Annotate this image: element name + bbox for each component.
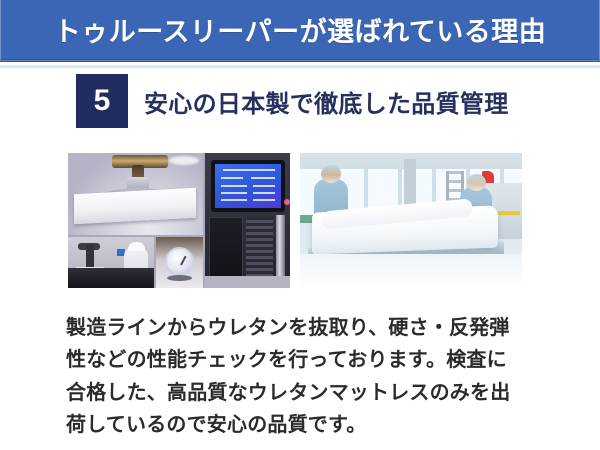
machine-floor-shape (205, 276, 290, 288)
measuring-dial-photo (156, 237, 203, 288)
header-banner: トゥルースリーパーが選ばれている理由 (0, 0, 600, 62)
foreground-white-shape (300, 254, 522, 288)
section-subtitle: 安心の日本製で徹底した品質管理 (144, 84, 509, 119)
compression-test-photo (68, 153, 203, 235)
touchscreen-shape (215, 164, 281, 208)
lab-technician-photo (68, 237, 154, 288)
microscope-body-shape (86, 245, 94, 269)
gauge-base-shape (167, 275, 192, 281)
technician-cap-shape (128, 242, 145, 251)
gauge-dial-shape (165, 247, 194, 276)
header-banner-inner: トゥルースリーパーが選ばれている理由 (0, 0, 600, 61)
panel-bezel-shape (211, 160, 285, 212)
body-paragraph: 製造ラインからウレタンを抜取り、硬さ・反発弾 性などの性能チェックを行っておりま… (66, 312, 536, 442)
promo-slide: トゥルースリーパーが選ばれている理由 5 安心の日本製で徹底した品質管理 (0, 0, 600, 450)
worker-right-head-shape (467, 174, 486, 191)
section-heading-row: 5 安心の日本製で徹底した品質管理 (76, 74, 509, 128)
header-underline (0, 65, 600, 68)
quality-testing-equipment-collage (68, 153, 290, 288)
body-line-4: 荷しているので安心の品質です。 (66, 409, 536, 441)
control-panel-photo (205, 153, 290, 288)
lens-glare-shape (169, 156, 199, 165)
body-line-3: 合格した、高品質なウレタンマットレスのみを出 (66, 377, 536, 409)
machine-rack-shape (246, 217, 273, 277)
foam-block-shape (74, 188, 196, 224)
indicator-light-shape (284, 199, 290, 205)
section-number-label: 5 (94, 86, 111, 116)
machine-tube-shape (276, 215, 285, 277)
body-line-2: 性などの性能チェックを行っております。検査に (66, 344, 536, 376)
page-title: トゥルースリーパーが選ばれている理由 (54, 10, 547, 49)
lab-bench-shape (68, 268, 154, 288)
body-line-1: 製造ラインからウレタンを抜取り、硬さ・反発弾 (66, 312, 536, 344)
worker-left-head-shape (321, 165, 341, 183)
photo-strip (68, 153, 522, 288)
section-number-badge: 5 (76, 74, 128, 128)
factory-workers-mattress (300, 153, 522, 288)
